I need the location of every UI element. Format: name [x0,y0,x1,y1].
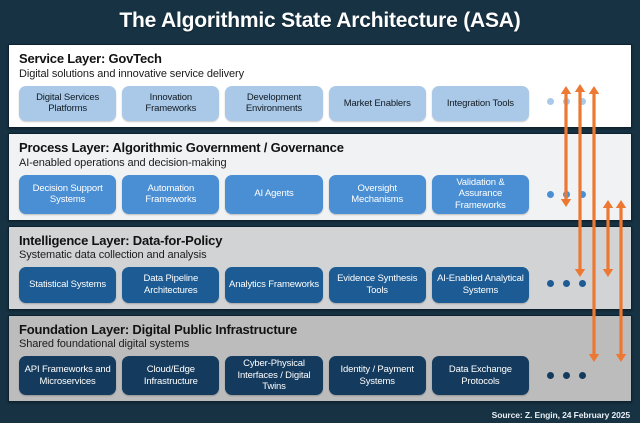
node-digital-services-platforms[interactable]: Digital Services Platforms [19,86,116,121]
node-analytics-frameworks[interactable]: Analytics Frameworks [225,267,322,302]
node-automation-frameworks[interactable]: Automation Frameworks [122,175,219,214]
node-ai-enabled-analytical-systems[interactable]: AI-Enabled Analytical Systems [432,267,529,302]
ellipsis-dots [547,280,586,287]
node-integration-tools[interactable]: Integration Tools [432,86,529,121]
dot [563,191,570,198]
layer-subtitle: AI-enabled operations and decision-makin… [19,157,621,170]
layer-title: Foundation Layer: Digital Public Infrast… [19,323,621,338]
ellipsis-dots [547,191,586,198]
node-row: Statistical Systems Data Pipeline Archit… [19,267,621,302]
node-cyber-physical-interfaces-digital-twins[interactable]: Cyber-Physical Interfaces / Digital Twin… [225,356,322,395]
dot [579,372,586,379]
layer-title: Process Layer: Algorithmic Government / … [19,141,621,156]
node-data-pipeline-architectures[interactable]: Data Pipeline Architectures [122,267,219,302]
node-decision-support-systems[interactable]: Decision Support Systems [19,175,116,214]
node-development-environments[interactable]: Development Environments [225,86,322,121]
dot [547,280,554,287]
layer-subtitle: Shared foundational digital systems [19,338,621,351]
node-row: Digital Services Platforms Innovation Fr… [19,86,621,121]
dot [579,191,586,198]
layer-process[interactable]: Process Layer: Algorithmic Government / … [8,133,632,220]
node-statistical-systems[interactable]: Statistical Systems [19,267,116,302]
node-identity-payment-systems[interactable]: Identity / Payment Systems [329,356,426,395]
node-row: Decision Support Systems Automation Fram… [19,175,621,214]
page-title: The Algorithmic State Architecture (ASA) [0,0,640,42]
node-evidence-synthesis-tools[interactable]: Evidence Synthesis Tools [329,267,426,302]
layer-foundation[interactable]: Foundation Layer: Digital Public Infrast… [8,315,632,402]
layer-subtitle: Systematic data collection and analysis [19,249,621,262]
diagram-canvas: The Algorithmic State Architecture (ASA)… [0,0,640,423]
node-cloud-edge-infrastructure[interactable]: Cloud/Edge Infrastructure [122,356,219,395]
dot [563,372,570,379]
node-row: API Frameworks and Microservices Cloud/E… [19,356,621,395]
layer-title: Service Layer: GovTech [19,52,621,67]
node-ai-agents[interactable]: AI Agents [225,175,322,214]
node-validation-assurance-frameworks[interactable]: Validation & Assurance Frameworks [432,175,529,214]
layer-title: Intelligence Layer: Data-for-Policy [19,234,621,249]
layer-subtitle: Digital solutions and innovative service… [19,68,621,81]
node-market-enablers[interactable]: Market Enablers [329,86,426,121]
ellipsis-dots [547,98,586,105]
layer-intelligence[interactable]: Intelligence Layer: Data-for-Policy Syst… [8,226,632,310]
node-oversight-mechanisms[interactable]: Oversight Mechanisms [329,175,426,214]
node-data-exchange-protocols[interactable]: Data Exchange Protocols [432,356,529,395]
dot [547,372,554,379]
layer-stack: Service Layer: GovTech Digital solutions… [8,44,632,402]
source-credit: Source: Z. Engin, 24 February 2025 [492,410,630,420]
dot [563,98,570,105]
node-api-frameworks-and-microservices[interactable]: API Frameworks and Microservices [19,356,116,395]
dot [547,98,554,105]
node-innovation-frameworks[interactable]: Innovation Frameworks [122,86,219,121]
layer-service[interactable]: Service Layer: GovTech Digital solutions… [8,44,632,128]
ellipsis-dots [547,372,586,379]
dot [547,191,554,198]
dot [563,280,570,287]
dot [579,280,586,287]
dot [579,98,586,105]
